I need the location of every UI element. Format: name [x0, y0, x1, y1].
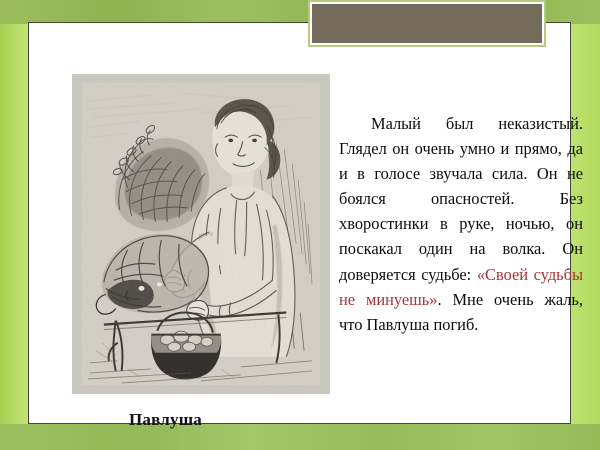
background-bottom-band [0, 424, 600, 450]
illustration-caption: Павлуша [129, 410, 202, 430]
title-placeholder-box[interactable] [308, 0, 546, 47]
title-placeholder-fill [312, 4, 542, 43]
body-paragraph: Малый был неказистый. Глядел он очень ум… [339, 111, 583, 337]
body-text-part1: Малый был неказистый. Глядел он очень ум… [339, 114, 583, 284]
illustration-frame[interactable] [72, 74, 330, 394]
illustration-image [82, 83, 320, 385]
content-panel: Павлуша Малый был неказистый. Глядел он … [28, 22, 571, 424]
slide-canvas: Павлуша Малый был неказистый. Глядел он … [0, 0, 600, 450]
